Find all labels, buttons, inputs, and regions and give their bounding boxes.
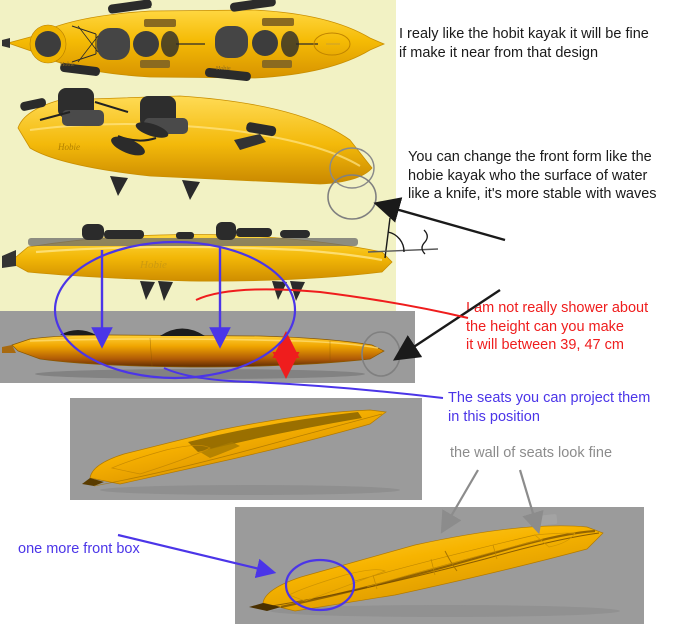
annotation-note-front-box: one more front box xyxy=(18,540,193,559)
panel-hobie-kayak-reference-photos: Hobie Hobie xyxy=(0,0,396,311)
panel-cad-render-side-view xyxy=(0,311,415,383)
annotation-note-front-form: You can change the front form like the h… xyxy=(408,148,689,204)
svg-text:Hobie: Hobie xyxy=(57,142,80,152)
annotation-note-seats: The seats you can project them in this p… xyxy=(448,389,689,426)
svg-text:Hobie: Hobie xyxy=(139,259,167,271)
svg-text:Hobie: Hobie xyxy=(60,62,75,68)
annotation-note-top: I realy like the hobit kayak it will be … xyxy=(399,25,689,62)
cad-deck-render-artwork xyxy=(235,507,644,624)
cad-hull-render-artwork xyxy=(70,398,422,500)
panel-cad-render-hull-perspective xyxy=(70,398,422,500)
photo-kayak-side-view: Hobie xyxy=(2,222,392,301)
photo-kayak-top-view: Hobie Hobie xyxy=(2,0,384,81)
svg-text:Hobie: Hobie xyxy=(216,66,231,72)
arrow-bow-callout-upper xyxy=(378,204,505,240)
photo-kayak-three-quarter-view: Hobie xyxy=(18,88,374,200)
panel-cad-render-deck-perspective xyxy=(235,507,644,624)
cad-side-render-artwork xyxy=(0,311,415,383)
screenshot-canvas: Hobie Hobie xyxy=(0,0,689,640)
annotation-note-wall-of-seats: the wall of seats look fine xyxy=(450,444,680,463)
reference-photos-artwork: Hobie Hobie xyxy=(0,0,396,311)
annotation-note-height: I am not really shower about the height … xyxy=(466,299,689,355)
